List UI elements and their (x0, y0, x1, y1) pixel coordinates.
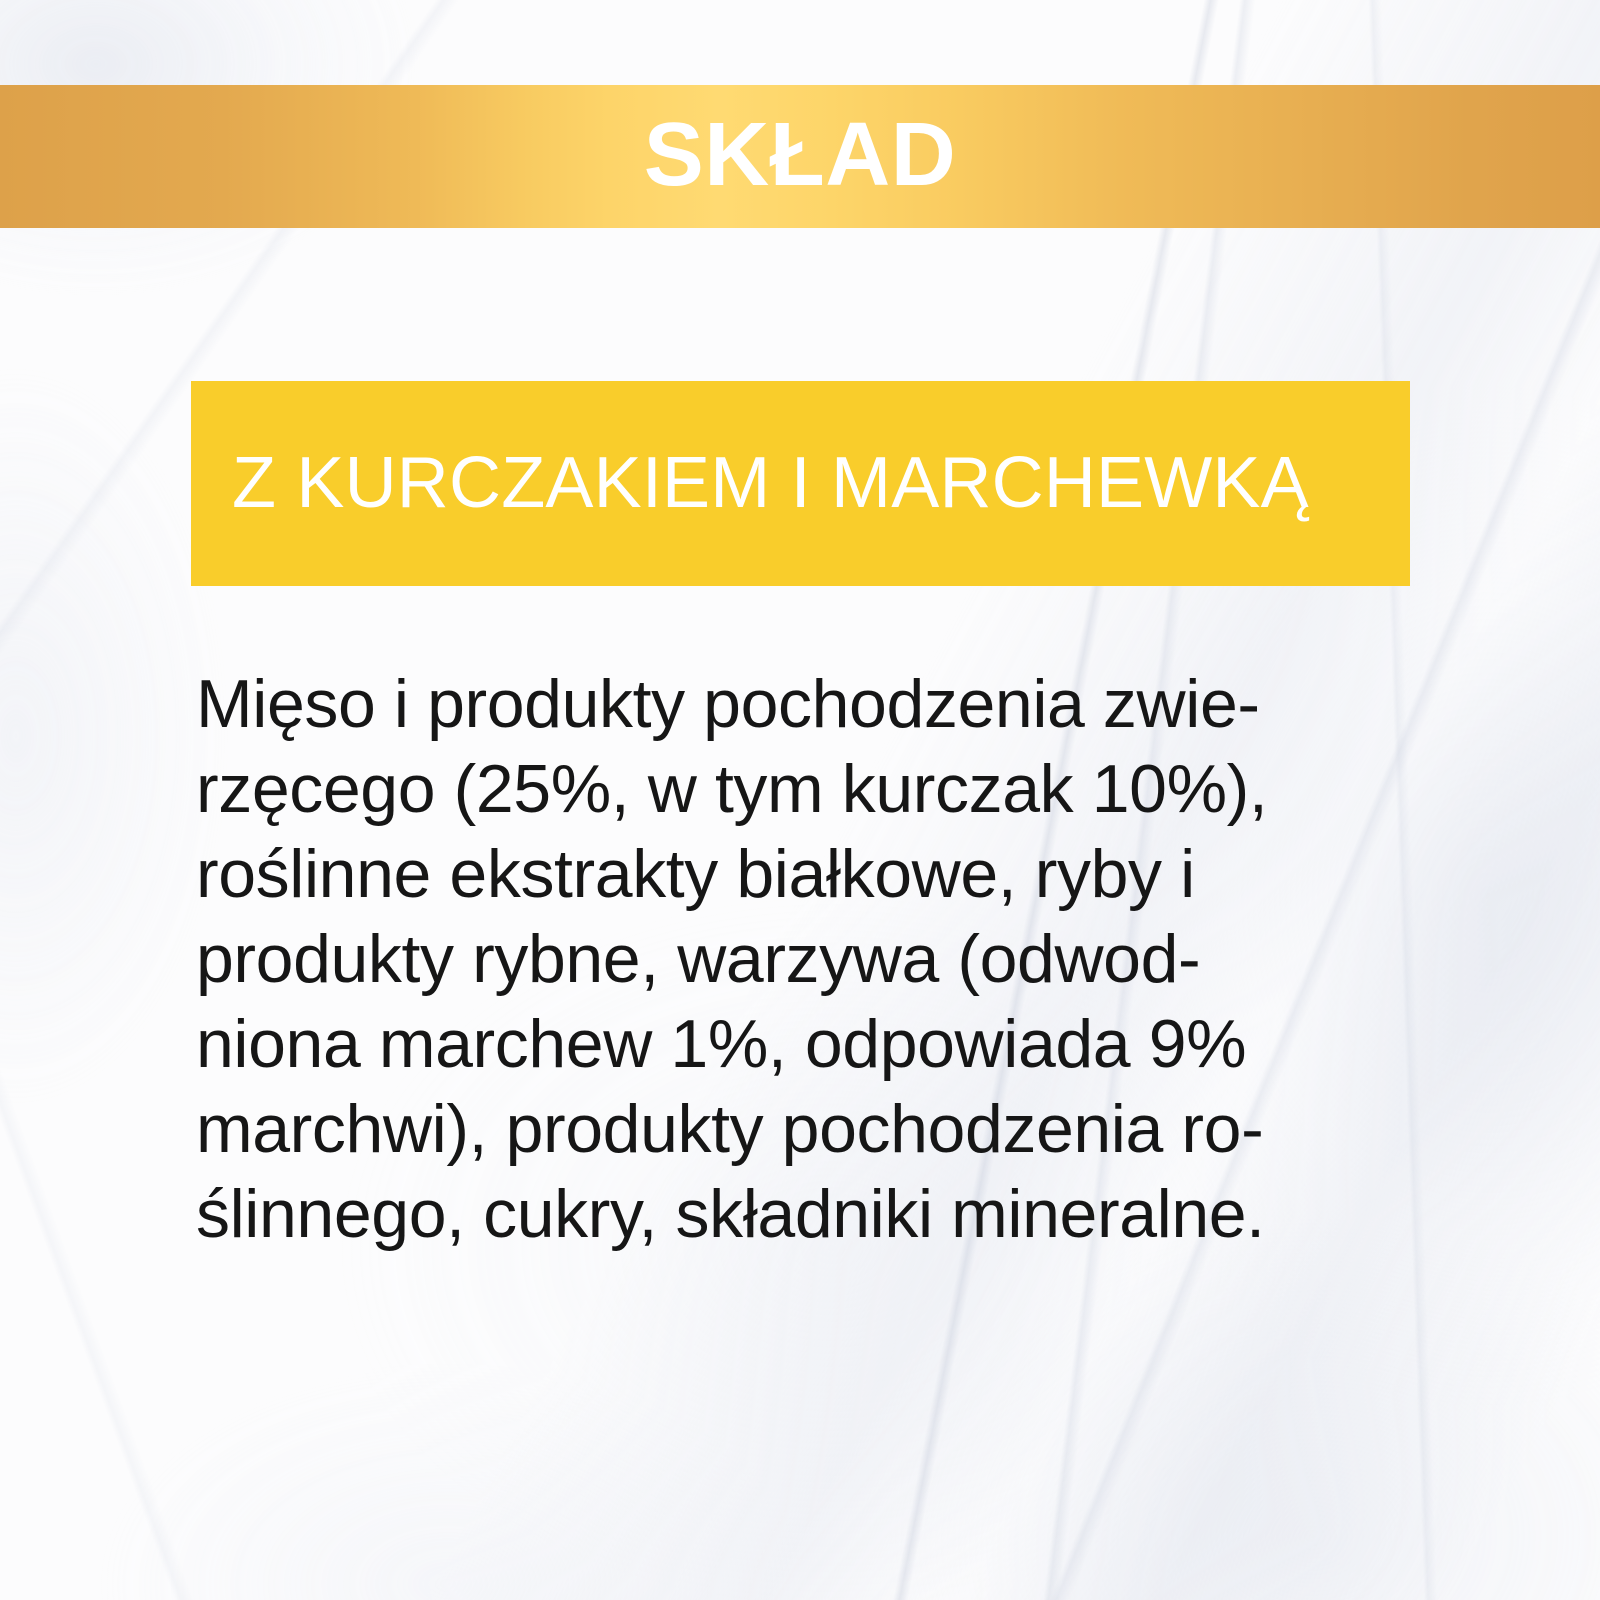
header-band: SKŁAD (0, 85, 1600, 228)
ingredients-line: produkty rybne, warzywa (odwod- (196, 917, 1411, 1002)
ingredients-line: rzęcego (25%, w tym kurczak 10%), (196, 747, 1411, 832)
ingredients-line: ślinnego, cukry, składniki mineralne. (196, 1172, 1411, 1257)
ingredients-panel: SKŁAD Z KURCZAKIEM I MARCHEWKĄ Mięso i p… (0, 0, 1600, 1600)
ingredients-line: roślinne ekstrakty białkowe, ryby i (196, 832, 1411, 917)
ingredients-line: marchwi), produkty pochodzenia ro- (196, 1087, 1411, 1172)
ingredients-line: niona marchew 1%, odpowiada 9% (196, 1002, 1411, 1087)
variant-name-box: Z KURCZAKIEM I MARCHEWKĄ (191, 381, 1410, 586)
ingredients-text-block: Mięso i produkty pochodzenia zwie- rzęce… (196, 662, 1411, 1257)
page-title: SKŁAD (644, 110, 957, 204)
ingredients-line: Mięso i produkty pochodzenia zwie- (196, 662, 1411, 747)
variant-name-label: Z KURCZAKIEM I MARCHEWKĄ (191, 447, 1309, 521)
